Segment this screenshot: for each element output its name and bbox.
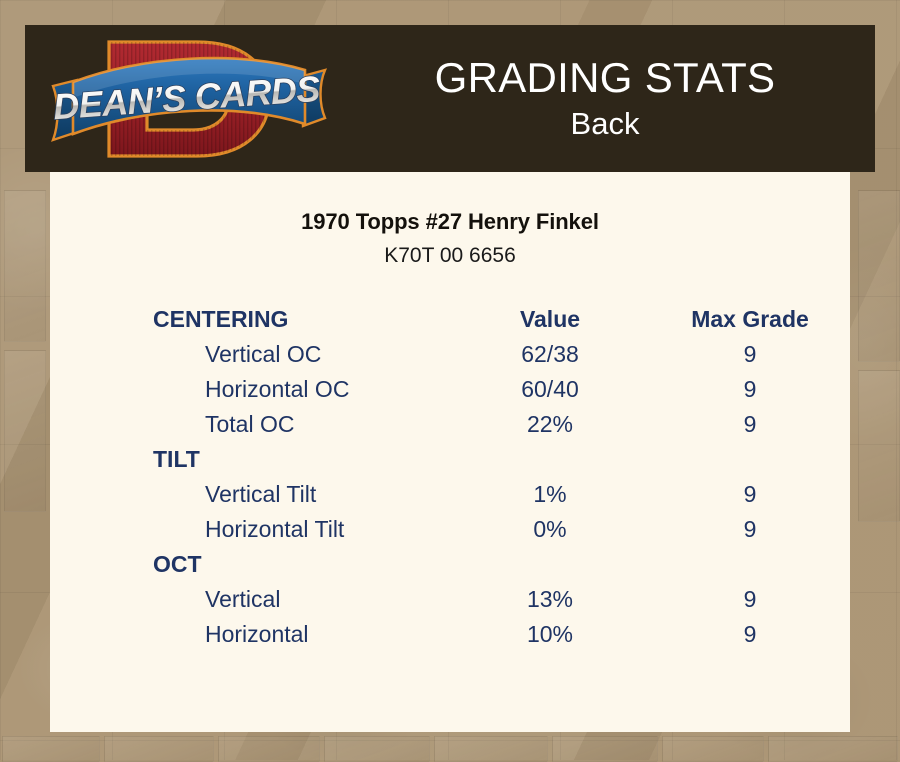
background-ghost-card [4,190,46,342]
stats-row-max-grade: 9 [650,337,850,372]
grading-stats-table: CENTERINGValueMax GradeVertical OC62/389… [50,302,850,652]
deans-cards-logo: DEAN’S CARDS [47,28,332,170]
column-header-max-grade: Max Grade [650,302,850,337]
background-ghost-card [662,736,764,762]
background-ghost-card [552,736,658,762]
column-header-max-grade [650,442,850,477]
background-ghost-card [104,736,214,762]
background-ghost-card [858,370,900,522]
content-panel: 1970 Topps #27 Henry Finkel K70T 00 6656… [50,172,850,732]
stats-section-name: OCT [50,547,450,582]
stats-row-label: Horizontal OC [50,372,450,407]
background-ghost-card [2,736,100,762]
stats-row-max-grade: 9 [650,477,850,512]
stats-row-max-grade: 9 [650,512,850,547]
stats-row-label: Vertical OC [50,337,450,372]
stats-row-label: Horizontal [50,617,450,652]
column-header-value [450,547,650,582]
stats-row-label: Vertical Tilt [50,477,450,512]
stats-section-header-row: TILT [50,442,850,477]
stats-row-value: 60/40 [450,372,650,407]
stats-row-value: 10% [450,617,650,652]
stats-row: Vertical Tilt1%9 [50,477,850,512]
card-title: 1970 Topps #27 Henry Finkel [50,209,850,235]
stats-section-header-row: OCT [50,547,850,582]
page-title: GRADING STATS [435,53,776,103]
stats-row-value: 22% [450,407,650,442]
grading-stats-body: CENTERINGValueMax GradeVertical OC62/389… [50,302,850,652]
stats-section-name: TILT [50,442,450,477]
stats-row-value: 0% [450,512,650,547]
background-ghost-card [768,736,898,762]
background-ghost-card [324,736,430,762]
column-header-value: Value [450,302,650,337]
stats-row: Total OC22%9 [50,407,850,442]
background-ghost-card [434,736,548,762]
column-header-max-grade [650,547,850,582]
stats-section-header-row: CENTERINGValueMax Grade [50,302,850,337]
stats-row: Vertical OC62/389 [50,337,850,372]
stats-row: Horizontal OC60/409 [50,372,850,407]
stats-row-max-grade: 9 [650,407,850,442]
stats-row: Horizontal Tilt0%9 [50,512,850,547]
stats-section-name: CENTERING [50,302,450,337]
stats-row-value: 1% [450,477,650,512]
stats-row-max-grade: 9 [650,617,850,652]
background-ghost-card [858,190,900,362]
stats-row-max-grade: 9 [650,582,850,617]
stats-row-max-grade: 9 [650,372,850,407]
stats-row-value: 13% [450,582,650,617]
column-header-value [450,442,650,477]
stats-row: Horizontal10%9 [50,617,850,652]
card-id: K70T 00 6656 [50,244,850,268]
stats-row-value: 62/38 [450,337,650,372]
stats-row-label: Total OC [50,407,450,442]
stats-row: Vertical13%9 [50,582,850,617]
page-subtitle: Back [571,103,640,145]
background-ghost-card [218,736,320,762]
stats-row-label: Vertical [50,582,450,617]
stats-row-label: Horizontal Tilt [50,512,450,547]
background-ghost-card [4,350,46,512]
header-bar: DEAN’S CARDS GRADING STATS Back [25,25,875,172]
header-title-block: GRADING STATS Back [335,25,875,172]
